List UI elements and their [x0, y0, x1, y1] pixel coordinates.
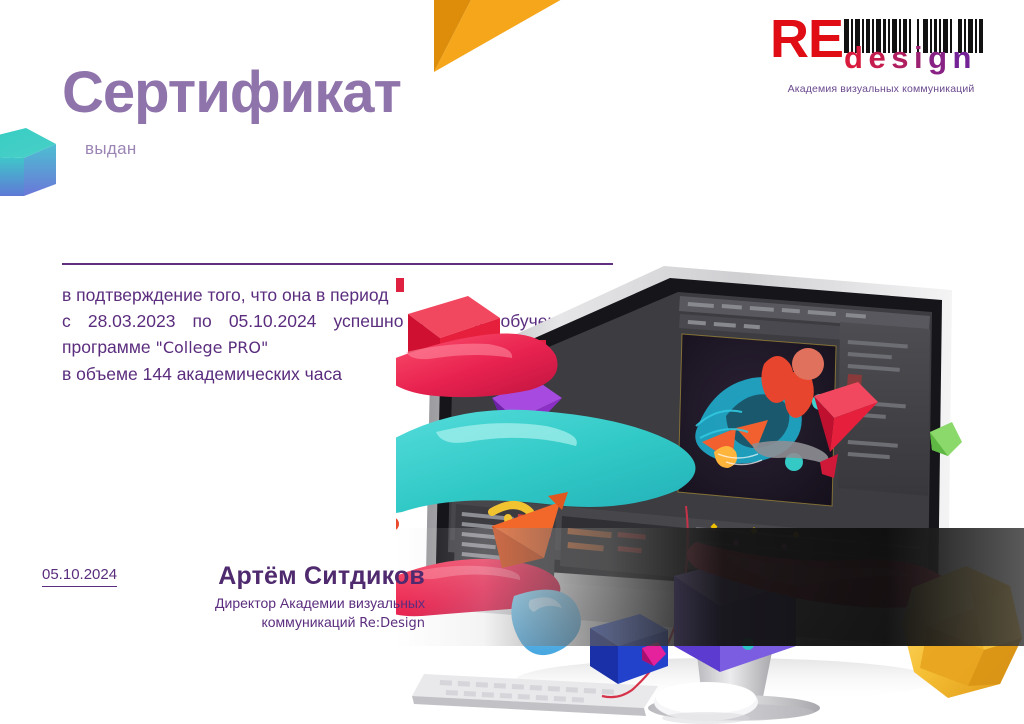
logo: RE — [766, 16, 996, 95]
certificate-page: RE — [0, 0, 1024, 724]
logo-letter-d: d — [844, 42, 868, 73]
teal-cube-shape — [0, 126, 60, 196]
signature-block: Артём Ситдиков Директор Академии визуаль… — [150, 560, 425, 633]
logo-tagline: Академия визуальных коммуникаций — [766, 83, 996, 95]
orange-arrow-shape — [414, 0, 574, 74]
brand-name: Re:Design — [359, 616, 425, 631]
logo-letter-e: e — [868, 42, 891, 73]
signatory-role-line-1: Директор Академии визуальных — [150, 594, 425, 613]
imac-3d-render: m — [396, 256, 1024, 724]
logo-re-text: RE — [770, 12, 843, 66]
signatory-name: Артём Ситдиков — [150, 560, 425, 592]
logo-letter-s: s — [891, 42, 914, 73]
signatory-role-line-2-prefix: коммуникаций — [261, 614, 359, 630]
logo-letter-n: n — [953, 42, 977, 73]
page-title: Сертификат — [62, 64, 401, 122]
page-subtitle: выдан — [85, 139, 137, 159]
issue-date: 05.10.2024 — [42, 566, 117, 587]
logo-mark: RE — [766, 16, 996, 78]
body-line-3-prefix: программе — [62, 337, 155, 357]
signatory-role: Директор Академии визуальных коммуникаци… — [150, 594, 425, 633]
signatory-role-line-2: коммуникаций Re:Design — [150, 613, 425, 633]
logo-letter-i: i — [914, 42, 928, 73]
logo-design-text: design — [844, 42, 977, 73]
program-name: "College PRO" — [155, 338, 268, 357]
logo-letter-g: g — [928, 42, 952, 73]
